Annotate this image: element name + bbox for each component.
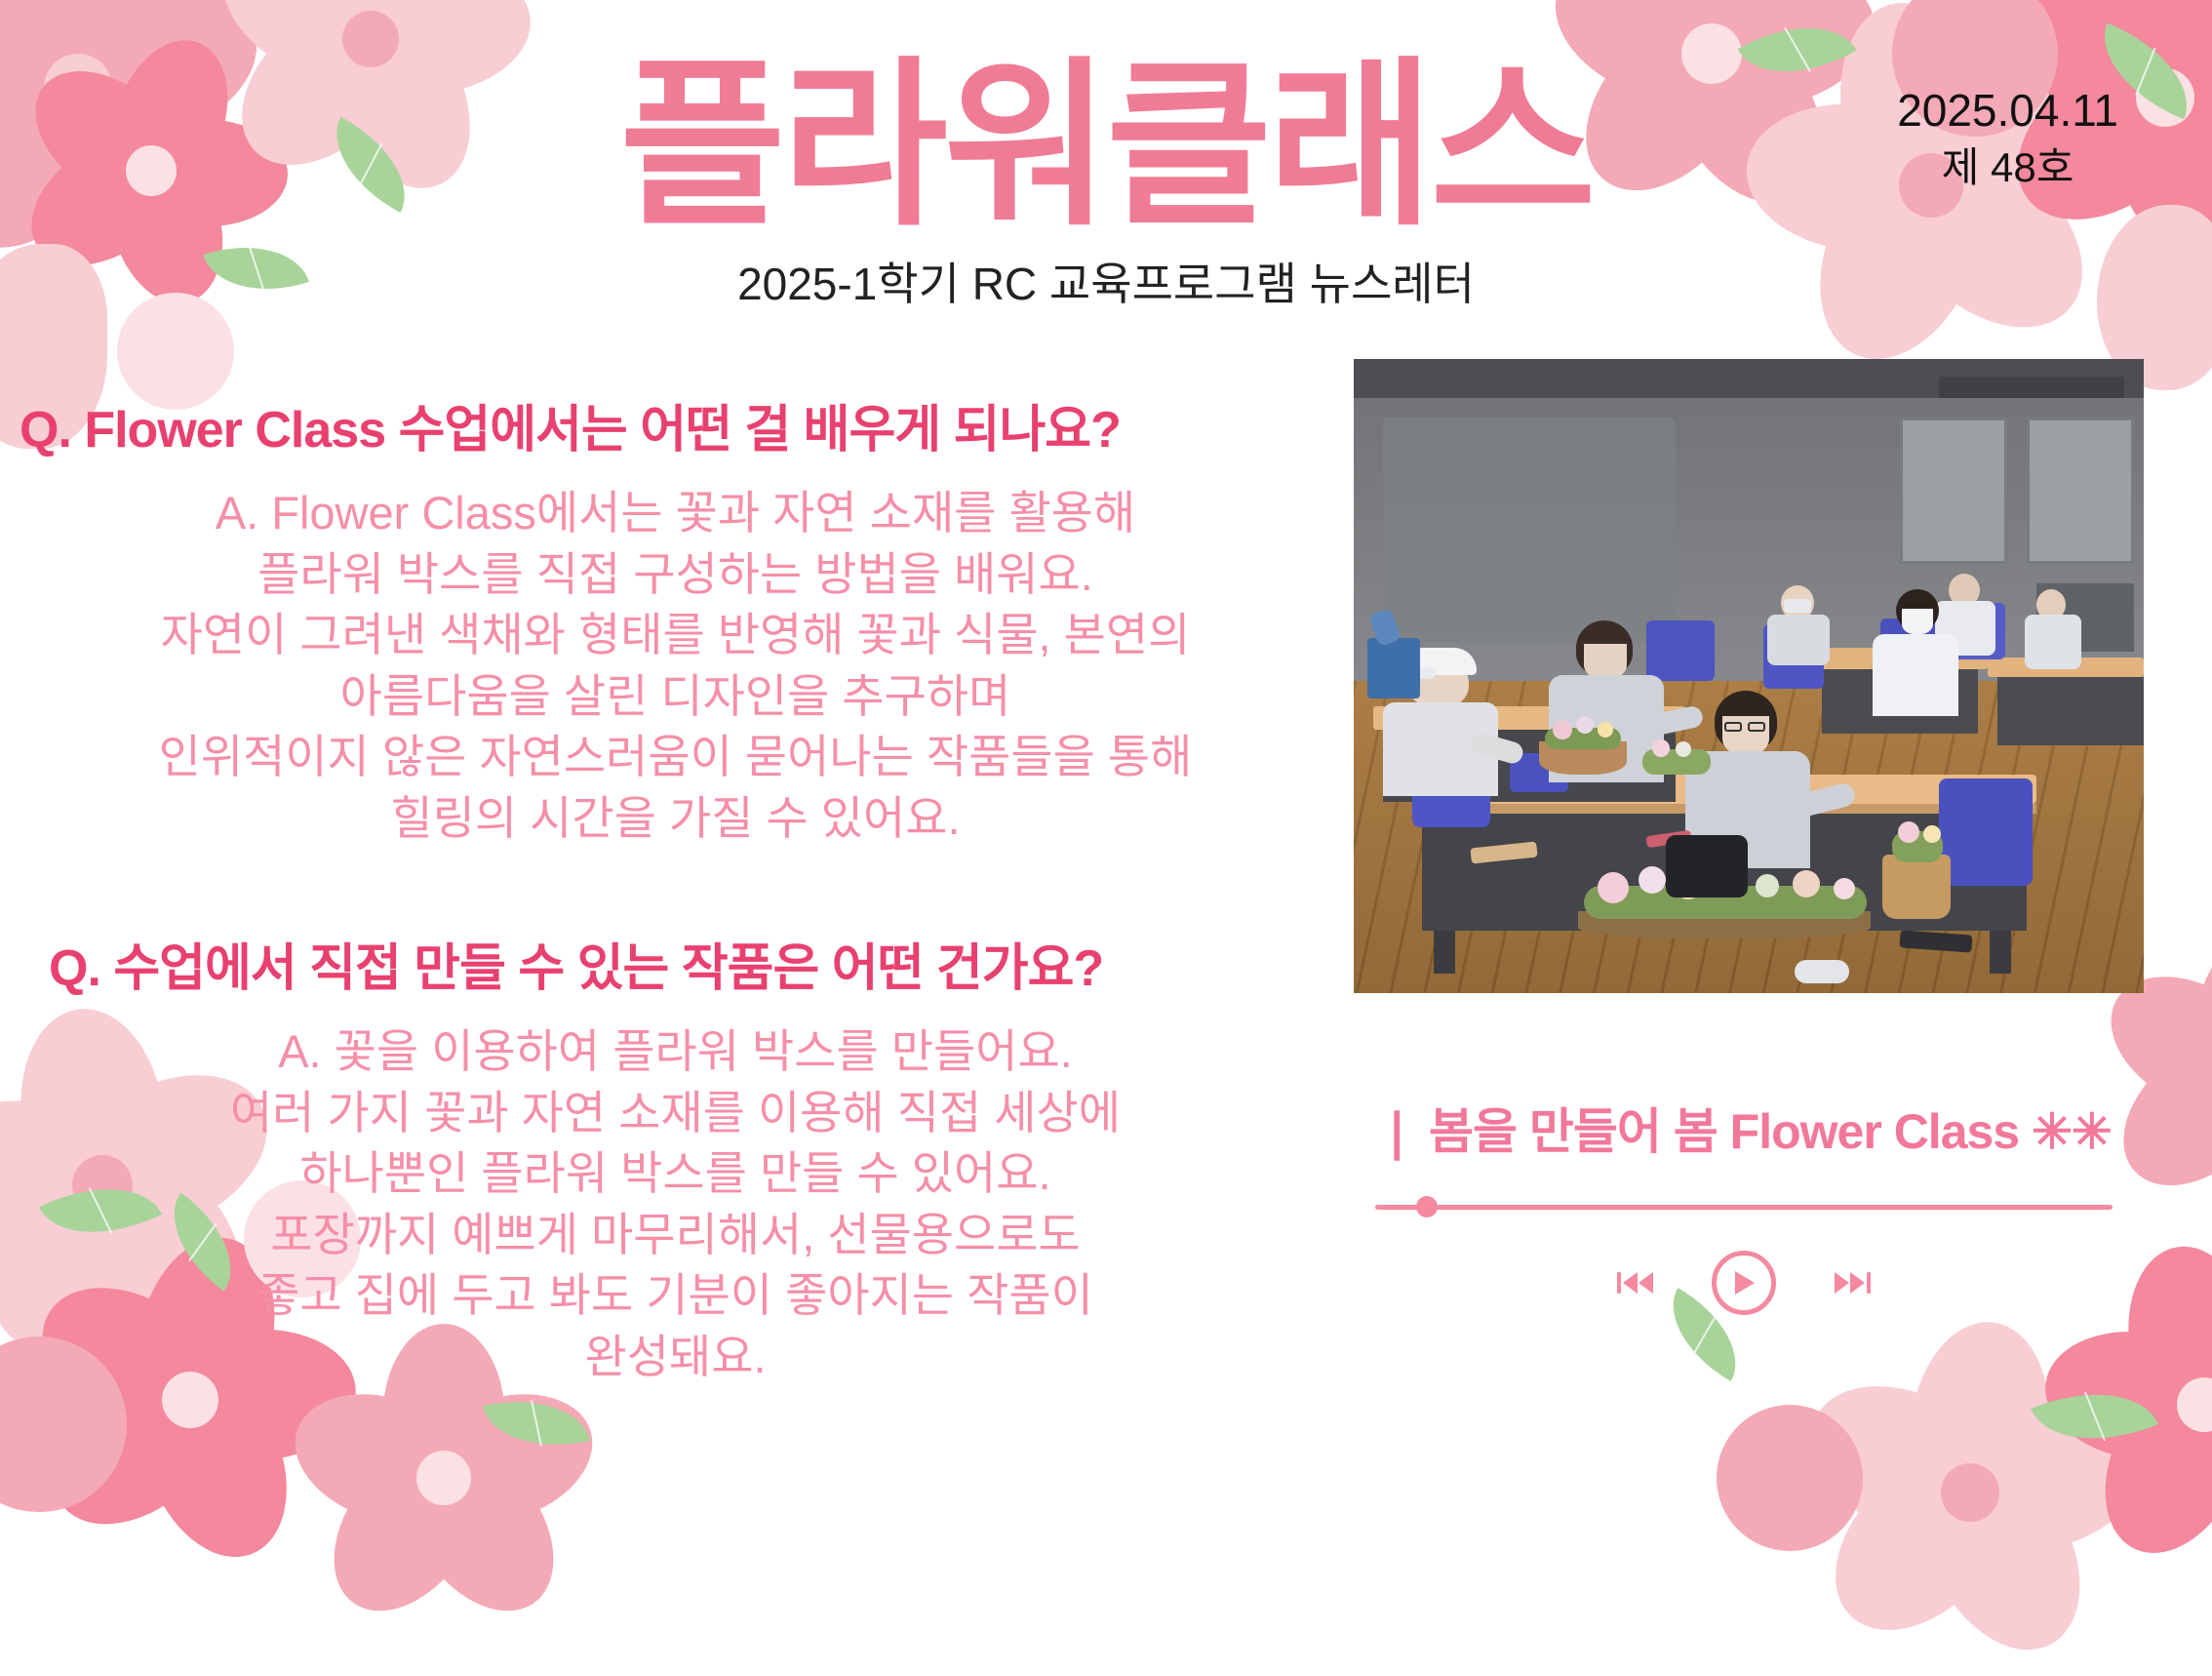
next-track-button[interactable] xyxy=(1833,1266,1872,1299)
player-track-title: ❘ 봄을 만들어 봄 Flower Class ✳✳ xyxy=(1354,1093,2134,1163)
masthead: 플라워클래스 2025-1학기 RC 교육프로그램 뉴스레터 xyxy=(0,57,2212,313)
answer-2-line: 하나뿐인 플라워 박스를 만들 수 있어요. xyxy=(39,1143,1312,1205)
answer-1-line: 아름다움을 살린 디자인을 추구하며 xyxy=(39,666,1312,728)
answer-1-line: 인위적이지 않은 자연스러움이 묻어나는 작품들을 통해 xyxy=(39,727,1312,788)
question-2: Q. 수업에서 직접 만들 수 있는 작품은 어떤 건가요? xyxy=(0,927,1351,1000)
progress-slider[interactable] xyxy=(1375,1196,2113,1217)
issue-info: 2025.04.11 제 48호 xyxy=(1897,80,2118,196)
progress-track[interactable] xyxy=(1375,1205,2113,1210)
play-button[interactable] xyxy=(1712,1251,1776,1315)
progress-thumb[interactable] xyxy=(1416,1196,1438,1217)
answer-2-line: 여러 가지 꽃과 자연 소재를 이용해 직접 세상에 xyxy=(39,1083,1312,1144)
answer-2-line: 좋고 집에 두고 봐도 기분이 좋아지는 작품이 xyxy=(39,1265,1312,1327)
section-spacer xyxy=(0,849,1351,899)
music-player: ❘ 봄을 만들어 봄 Flower Class ✳✳ xyxy=(1354,1093,2134,1315)
answer-1-line: A. Flower Class에서는 꽃과 자연 소재를 활용해 xyxy=(39,483,1312,544)
question-1: Q. Flower Class 수업에서는 어떤 걸 배우게 되나요? xyxy=(0,388,1351,461)
page-title: 플라워클래스 xyxy=(0,57,2212,237)
player-controls xyxy=(1354,1251,2134,1315)
answer-2: A. 꽃을 이용하여 플라워 박스를 만들어요. 여러 가지 꽃과 자연 소재를… xyxy=(0,1021,1351,1387)
answer-1: A. Flower Class에서는 꽃과 자연 소재를 활용해 플라워 박스를… xyxy=(0,483,1351,849)
answer-2-line: 포장까지 예쁘게 마무리해서, 선물용으로도 xyxy=(39,1205,1312,1266)
qa-section: Q. Flower Class 수업에서는 어떤 걸 배우게 되나요? A. F… xyxy=(0,388,1351,1387)
page-subtitle: 2025-1학기 RC 교육프로그램 뉴스레터 xyxy=(0,249,2212,313)
previous-track-button[interactable] xyxy=(1616,1266,1655,1299)
issue-date: 2025.04.11 xyxy=(1897,80,2118,140)
answer-2-line: A. 꽃을 이용하여 플라워 박스를 만들어요. xyxy=(39,1021,1312,1083)
issue-number: 제 48호 xyxy=(1897,140,2118,196)
flower-class-classroom-photo xyxy=(1354,359,2144,993)
answer-1-line: 플라워 박스를 직접 구성하는 방법을 배워요. xyxy=(39,544,1312,606)
answer-2-line: 완성돼요. xyxy=(39,1327,1312,1388)
answer-1-line: 자연이 그려낸 색채와 형태를 반영해 꽃과 식물, 본연의 xyxy=(39,605,1312,666)
answer-1-line: 힐링의 시간을 가질 수 있어요. xyxy=(39,788,1312,850)
